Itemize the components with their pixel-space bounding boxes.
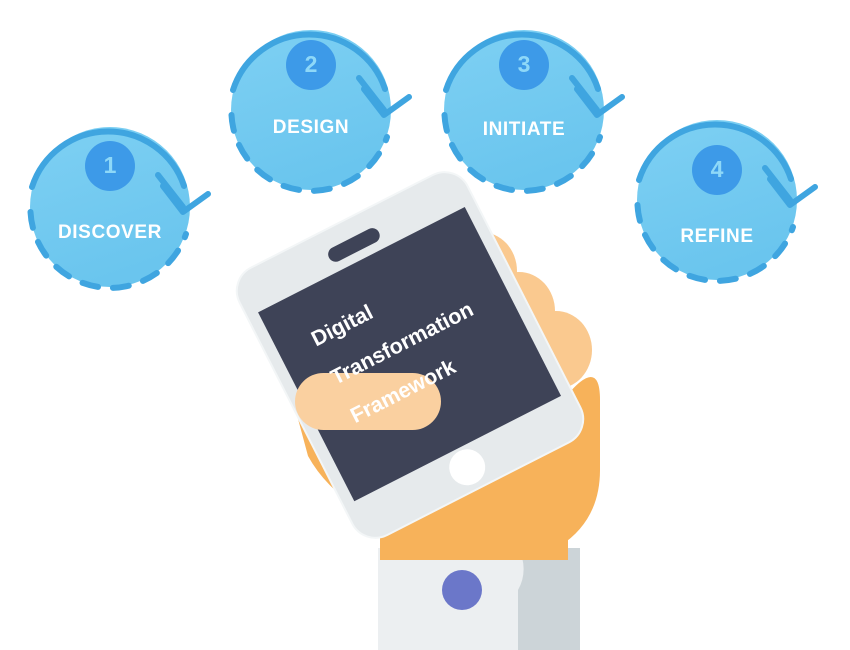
sleeve-front-fill	[378, 548, 498, 650]
diagram-canvas: 1 DISCOVER 2 DESIGN 3	[0, 0, 850, 650]
hand-phone-illustration: Digital Transformation Framework	[0, 0, 850, 650]
sleeve-button-dot	[442, 570, 482, 610]
sleeve-group	[378, 548, 580, 650]
